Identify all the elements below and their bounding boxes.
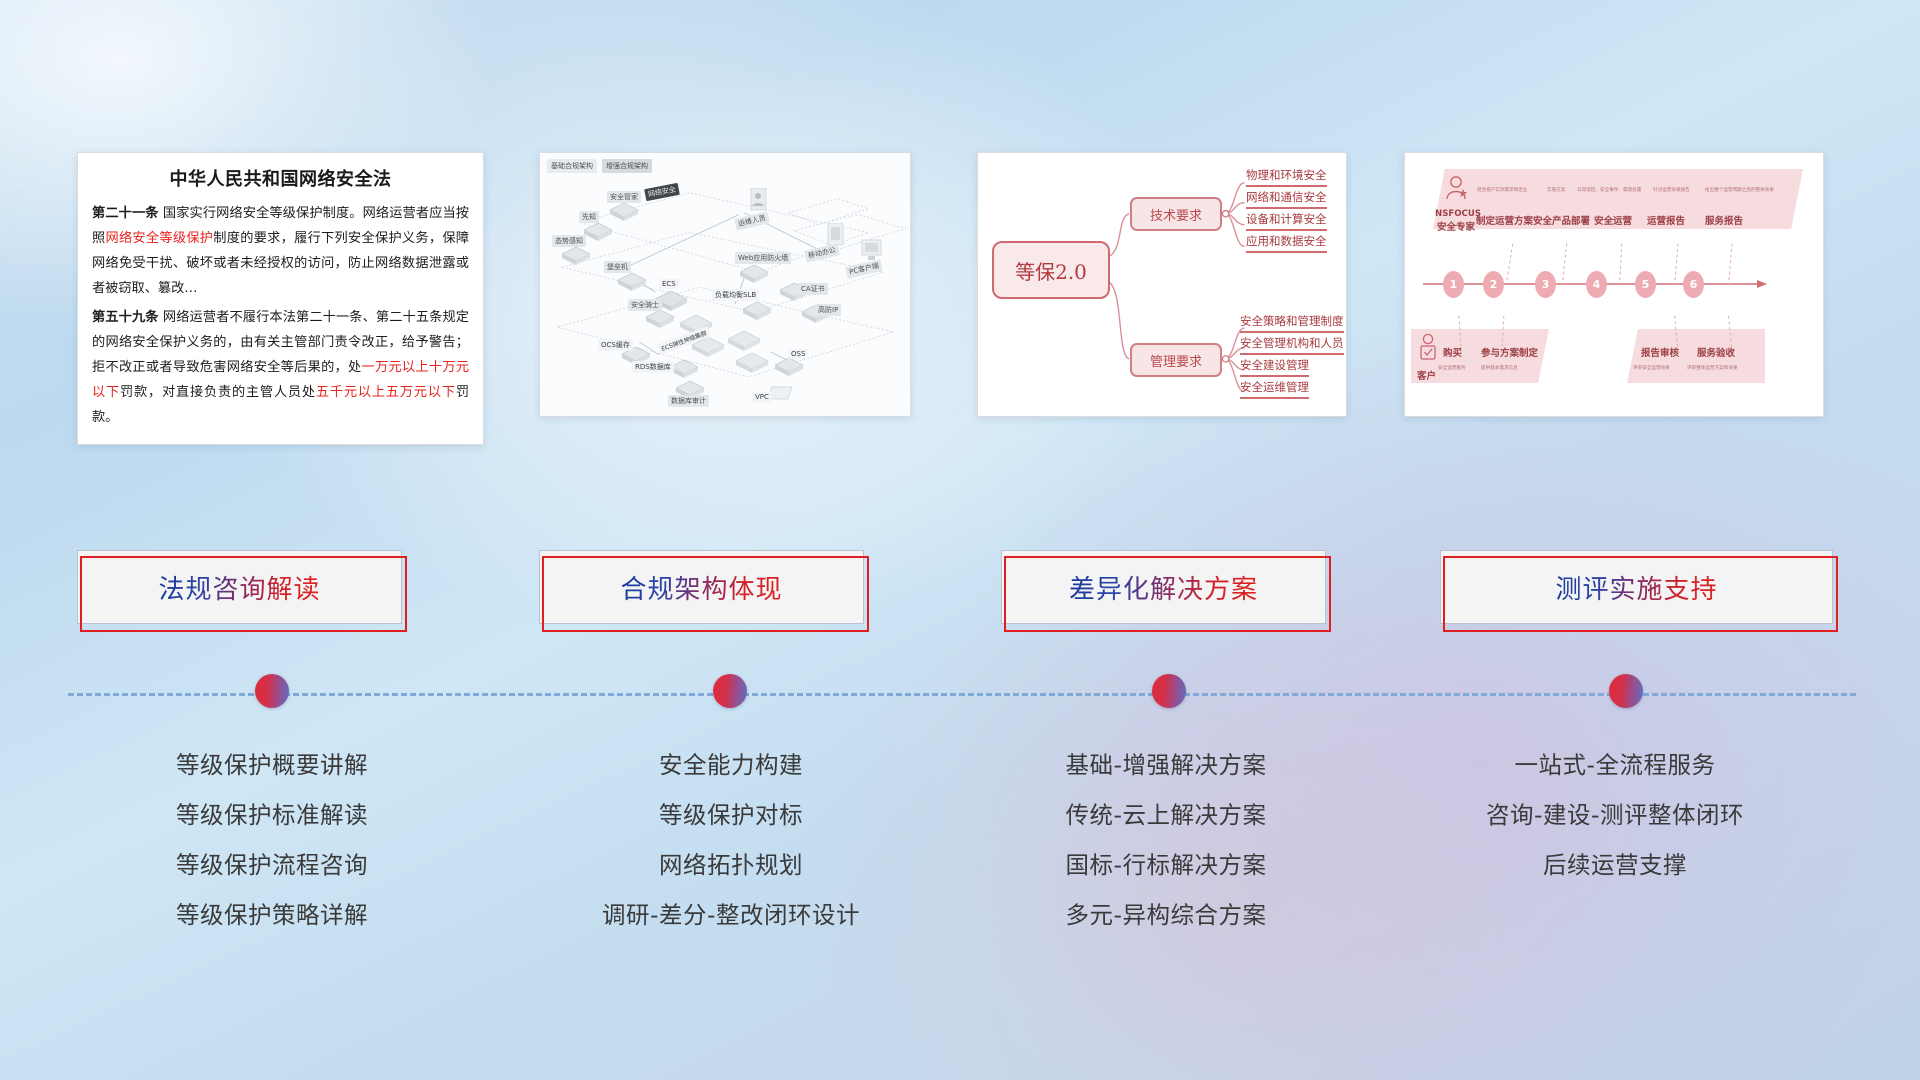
- architecture-diagram: 基础合规架构 增强合规架构: [540, 153, 910, 416]
- label-slb: 负载均衡SLB: [712, 289, 759, 301]
- mindmap-leaf-device-computing: 设备和计算安全: [1246, 211, 1327, 231]
- node-icon-waf: [740, 263, 770, 290]
- label-database-audit: 数据库审计: [668, 395, 709, 407]
- card-compliance-architecture: 基础合规架构 增强合规架构: [539, 152, 911, 417]
- node-icon-oss: [775, 356, 805, 383]
- law-article-59: 第五十九条 网络运营者不履行本法第二十一条、第二十五条规定的网络安全保护义务的，…: [92, 305, 469, 430]
- roadmap-bottom-sub-1: 安全运营服务: [1438, 365, 1466, 371]
- roadmap-bottom-title-6: 服务验收: [1697, 345, 1735, 359]
- roadmap-bottom-sub-5: 评审安全运营效果: [1633, 365, 1670, 371]
- law-title: 中华人民共和国网络安全法: [92, 165, 469, 191]
- timeline-dot-1: [255, 674, 289, 708]
- label-ecs: ECS: [659, 279, 679, 289]
- mindmap-root-node: 等保2.0: [992, 241, 1110, 299]
- mindmap-collapse-toggle-mgmt: [1222, 356, 1228, 362]
- service-list-solutions: 基础-增强解决方案 传统-云上解决方案 国标-行标解决方案 多元-异构综合方案: [951, 740, 1381, 940]
- law-article-21: 第二十一条 国家实行网络安全等级保护制度。网络运营者应当按照网络安全等级保护制度…: [92, 201, 469, 301]
- label-ca-certificate: CA证书: [798, 283, 828, 295]
- mindmap-branch-technical: 技术要求: [1130, 197, 1222, 231]
- label-ocs-cache: OCS缓存: [598, 339, 633, 351]
- mindmap-leaf-physical-environment: 物理和环境安全: [1246, 167, 1327, 187]
- list-item: 多元-异构综合方案: [951, 890, 1381, 940]
- card-dengbao-mindmap: 等保2.0 技术要求 管理要求 物理和环境安全 网络和通信安全 设备和计算安全 …: [977, 152, 1347, 417]
- roadmap-bottom-sub-2: 提供基本需求信息: [1481, 365, 1518, 371]
- label-security-knight: 安全骑士: [628, 299, 662, 311]
- node-icon-bastion-host: [618, 271, 648, 298]
- label-waf: Web应用防火墙: [735, 252, 791, 264]
- law-text-body: 中华人民共和国网络安全法 第二十一条 国家实行网络安全等级保护制度。网络运营者应…: [78, 153, 483, 438]
- article-21-highlight: 网络安全等级保护: [105, 231, 213, 246]
- label-xianzhi: 先知: [579, 211, 599, 223]
- node-icon-slb: [743, 300, 773, 327]
- mindmap-leaf-security-construction: 安全建设管理: [1240, 357, 1309, 377]
- roadmap-bottom-title-2: 参与方案制定: [1481, 345, 1538, 359]
- architecture-connectors: [540, 153, 910, 417]
- timeline-dashed-line: [68, 693, 1856, 696]
- list-item: 基础-增强解决方案: [951, 740, 1381, 790]
- list-item: 国标-行标解决方案: [951, 840, 1381, 890]
- label-rds-database: RDS数据库: [632, 361, 674, 373]
- mindmap-leaf-security-ops: 安全运维管理: [1240, 379, 1309, 399]
- list-item: 等级保护标准解读: [57, 790, 487, 840]
- roadmap-bottom-sub-6: 评审整体运营方案和效果: [1687, 365, 1738, 371]
- roadmap-top-title-2: 制定运营方案: [1476, 213, 1533, 227]
- header-box-assessment-support[interactable]: 测评实施支持: [1440, 550, 1833, 624]
- service-list-regulatory: 等级保护概要讲解 等级保护标准解读 等级保护流程咨询 等级保护策略详解: [57, 740, 487, 940]
- service-list-architecture: 安全能力构建 等级保护对标 网络拓扑规划 调研-差分-整改闭环设计: [516, 740, 946, 940]
- roadmap-top-sub-3: 实施方案: [1547, 187, 1565, 193]
- list-item: 后续运营支撑: [1400, 840, 1830, 890]
- list-item: 咨询-建设-测评整体闭环: [1400, 790, 1830, 840]
- article-59-highlight-2: 五千元以上五万元以下: [316, 385, 456, 400]
- mindmap-leaf-network-communication: 网络和通信安全: [1246, 189, 1327, 209]
- roadmap-top-title-5: 运营报告: [1647, 213, 1685, 227]
- list-item: 等级保护对标: [516, 790, 946, 840]
- node-icon-ecs-cluster-d: [736, 351, 770, 380]
- article-21-label: 第二十一条: [92, 206, 159, 221]
- list-item: 安全能力构建: [516, 740, 946, 790]
- mindmap-leaf-security-policy: 安全策略和管理制度: [1240, 313, 1344, 333]
- timeline-dot-2: [713, 674, 747, 708]
- roadmap-top-sub-2: 结合客户实际需求制定业: [1477, 187, 1528, 193]
- roadmap-bottom-title-5: 报告审核: [1641, 345, 1679, 359]
- node-icon-vpc: [768, 385, 796, 408]
- label-bastion-host: 堡垒机: [604, 261, 631, 273]
- label-anti-ddos-ip: 高防IP: [815, 304, 841, 316]
- article-59-mid: 罚款，对直接负责的主管人员处: [120, 385, 316, 400]
- roadmap-bottom-title-1: 购买: [1443, 345, 1462, 359]
- header-label-4: 测评实施支持: [1555, 569, 1717, 606]
- roadmap-top-sub-5: 针对运营效果报告: [1653, 187, 1690, 193]
- roadmap-top-sub-4: 日常巡检、安全事件、漏洞处置: [1577, 187, 1641, 193]
- list-item: 等级保护概要讲解: [57, 740, 487, 790]
- timeline-dot-4: [1609, 674, 1643, 708]
- label-vpc: VPC: [752, 392, 772, 402]
- roadmap-top-sub-6: 给出整个运营周期之后的整体效果: [1705, 187, 1774, 193]
- label-situational-awareness: 态势感知: [552, 235, 586, 247]
- list-item: 等级保护策略详解: [57, 890, 487, 940]
- list-item: 调研-差分-整改闭环设计: [516, 890, 946, 940]
- roadmap-diagram: NSFOCUS 安全专家 客户 1 2 3 4 5 6: [1405, 153, 1823, 416]
- mindmap-branch-management: 管理要求: [1130, 343, 1222, 377]
- roadmap-top-title-4: 安全运营: [1594, 213, 1632, 227]
- mindmap-leaf-application-data: 应用和数据安全: [1246, 233, 1327, 253]
- header-box-regulatory-consulting[interactable]: 法规咨询解读: [77, 550, 402, 624]
- header-label-1: 法规咨询解读: [158, 569, 320, 606]
- mindmap-leaf-security-org-personnel: 安全管理机构和人员: [1240, 335, 1344, 355]
- label-oss: OSS: [788, 349, 808, 359]
- header-label-2: 合规架构体现: [620, 569, 782, 606]
- poster-stage: 中华人民共和国网络安全法 第二十一条 国家实行网络安全等级保护制度。网络运营者应…: [0, 0, 1920, 1080]
- header-box-differentiated-solutions[interactable]: 差异化解决方案: [1001, 550, 1326, 624]
- header-box-compliance-architecture[interactable]: 合规架构体现: [539, 550, 864, 624]
- header-label-3: 差异化解决方案: [1069, 569, 1258, 606]
- list-item: 等级保护流程咨询: [57, 840, 487, 890]
- timeline-dot-3: [1152, 674, 1186, 708]
- card-nsfocus-service-roadmap: NSFOCUS 安全专家 客户 1 2 3 4 5 6: [1404, 152, 1824, 417]
- roadmap-top-title-3: 安全产品部署: [1533, 213, 1590, 227]
- mindmap-diagram: 等保2.0 技术要求 管理要求 物理和环境安全 网络和通信安全 设备和计算安全 …: [978, 153, 1346, 416]
- node-icon-security-butler: [610, 201, 640, 228]
- label-security-butler: 安全管家: [607, 191, 641, 203]
- list-item: 传统-云上解决方案: [951, 790, 1381, 840]
- service-list-assessment: 一站式-全流程服务 咨询-建设-测评整体闭环 后续运营支撑: [1400, 740, 1830, 890]
- node-icon-situational-awareness: [562, 245, 592, 272]
- list-item: 一站式-全流程服务: [1400, 740, 1830, 790]
- list-item: 网络拓扑规划: [516, 840, 946, 890]
- card-cybersecurity-law: 中华人民共和国网络安全法 第二十一条 国家实行网络安全等级保护制度。网络运营者应…: [77, 152, 484, 445]
- roadmap-top-title-6: 服务报告: [1705, 213, 1743, 227]
- article-59-label: 第五十九条: [92, 310, 159, 325]
- mindmap-collapse-toggle-tech: [1222, 210, 1228, 216]
